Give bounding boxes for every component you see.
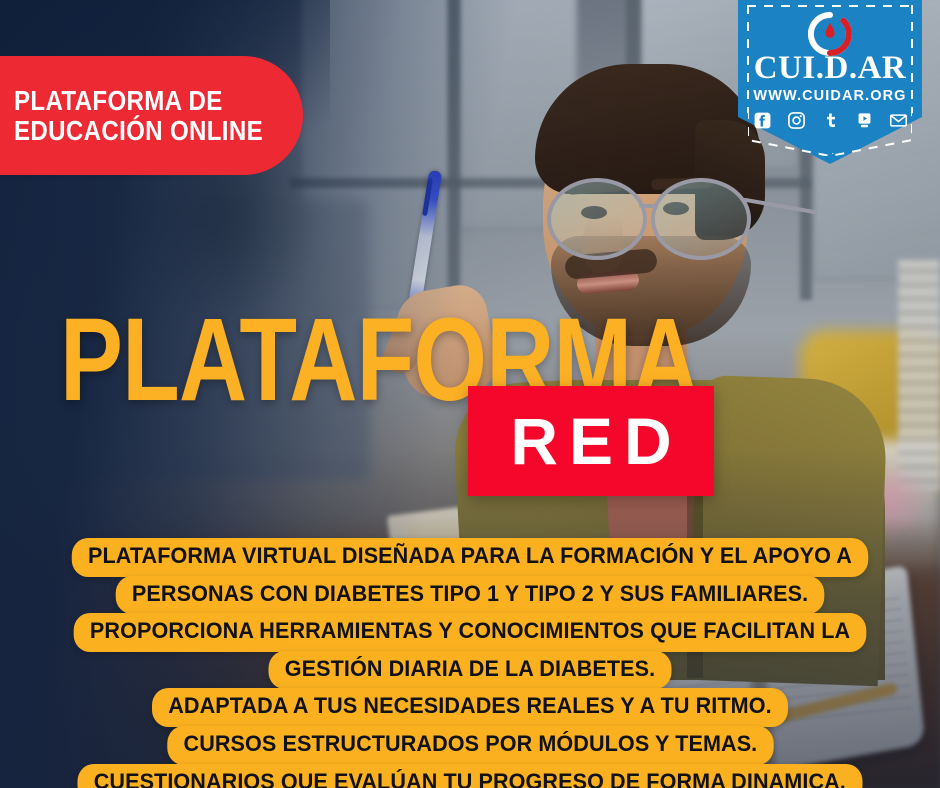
instagram-icon[interactable] xyxy=(786,110,806,130)
description-line: CURSOS ESTRUCTURADOS POR MÓDULOS Y TEMAS… xyxy=(167,726,773,765)
description-line: ADAPTADA A TUS NECESIDADES REALES Y A TU… xyxy=(152,688,788,727)
education-banner: PLATAFORMA DE EDUCACIÓN ONLINE xyxy=(0,56,303,175)
description-line: CUESTIONARIOS QUE EVALÚAN TU PROGRESO DE… xyxy=(78,764,863,788)
description-line: PLATAFORMA VIRTUAL DISEÑADA PARA LA FORM… xyxy=(72,538,868,577)
hero-highlight-text: RED xyxy=(499,408,682,474)
hero-highlight-box: RED xyxy=(468,386,714,496)
description-line: PERSONAS CON DIABETES TIPO 1 Y TIPO 2 Y … xyxy=(116,576,825,615)
education-banner-line-2: EDUCACIÓN ONLINE xyxy=(14,116,263,146)
email-icon[interactable] xyxy=(888,110,908,130)
logo-website-url: WWW.CUIDAR.ORG xyxy=(738,88,922,104)
promo-poster: PLATAFORMA DE EDUCACIÓN ONLINE CUI.D.AR … xyxy=(0,0,940,788)
social-links[interactable] xyxy=(738,110,922,130)
description-line: PROPORCIONA HERRAMIENTAS Y CONOCIMIENTOS… xyxy=(74,613,867,652)
education-banner-line-1: PLATAFORMA DE xyxy=(14,86,263,116)
cuidar-logo[interactable]: CUI.D.AR WWW.CUIDAR.ORG xyxy=(738,0,922,164)
youtube-icon[interactable] xyxy=(854,110,874,130)
description-block: PLATAFORMA VIRTUAL DISEÑADA PARA LA FORM… xyxy=(0,538,940,788)
description-line: GESTIÓN DIARIA DE LA DIABETES. xyxy=(269,651,672,690)
twitter-icon[interactable] xyxy=(820,110,840,130)
logo-brand-name: CUI.D.AR xyxy=(738,52,922,85)
facebook-icon[interactable] xyxy=(752,110,772,130)
